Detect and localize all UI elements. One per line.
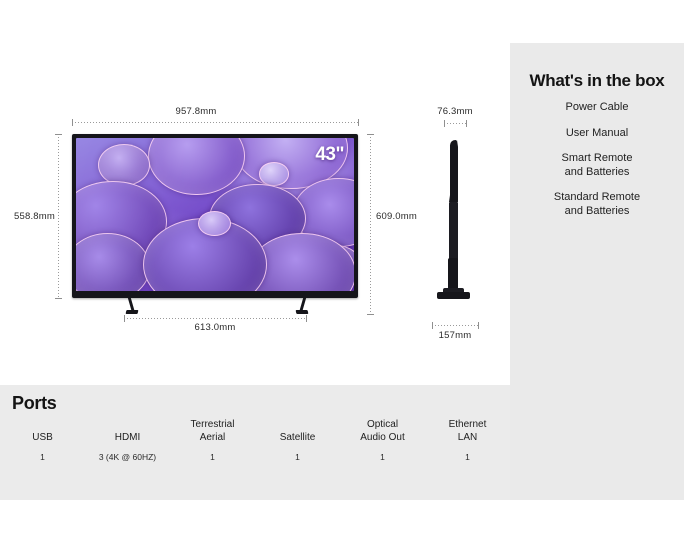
tv-front-view: 43"	[72, 134, 358, 298]
port-name-line1: Ethernet	[449, 419, 487, 432]
tv-screen-artwork: 43"	[76, 138, 354, 291]
base-depth-dimension-line	[432, 325, 478, 326]
port-name: Optical Audio Out	[340, 419, 425, 444]
height-left-dimension-line	[58, 134, 59, 298]
whats-in-the-box-title: What's in the box	[510, 71, 684, 91]
depth-dimension-line	[444, 123, 466, 124]
box-item: Smart Remote and Batteries	[510, 152, 684, 179]
height-right-dimension-label: 609.0mm	[376, 211, 417, 222]
port-column-usb: USB 1	[0, 419, 85, 462]
ports-row: USB 1 HDMI 3 (4K @ 60HZ) Terrestrial Aer…	[0, 419, 510, 462]
whats-in-the-box-panel: What's in the box Power Cable User Manua…	[510, 43, 684, 500]
port-name-line2: Audio Out	[360, 432, 404, 445]
port-name-line2: Satellite	[280, 432, 316, 445]
port-name: Ethernet LAN	[425, 419, 510, 444]
port-column-hdmi: HDMI 3 (4K @ 60HZ)	[85, 419, 170, 462]
box-item-line2: and Batteries	[510, 205, 684, 219]
port-name: HDMI	[85, 419, 170, 444]
ports-title: Ports	[12, 393, 57, 414]
base-depth-dimension-label: 157mm	[439, 330, 472, 341]
port-column-optical-audio-out: Optical Audio Out 1	[340, 419, 425, 462]
port-name-line2: LAN	[458, 432, 477, 445]
port-name-line2: HDMI	[115, 432, 141, 445]
port-name: Terrestrial Aerial	[170, 419, 255, 444]
port-value: 1	[255, 452, 340, 462]
box-item-line1: User Manual	[510, 127, 684, 141]
box-item-line1: Standard Remote	[510, 191, 684, 205]
ports-panel: Ports USB 1 HDMI 3 (4K @ 60HZ) Terrestri…	[0, 385, 510, 500]
stand-width-dimension-line	[124, 318, 306, 319]
tv-stand-base	[437, 292, 470, 299]
box-item: Power Cable	[510, 101, 684, 115]
screen-size-badge: 43"	[315, 144, 344, 166]
height-left-dimension-label: 558.8mm	[14, 211, 55, 222]
box-item-line1: Smart Remote	[510, 152, 684, 166]
depth-dimension-label: 76.3mm	[437, 106, 473, 117]
port-value: 1	[170, 452, 255, 462]
box-item: Standard Remote and Batteries	[510, 191, 684, 218]
port-name: USB	[0, 419, 85, 444]
tv-side-view	[440, 140, 470, 305]
port-name-line1: Terrestrial	[191, 419, 235, 432]
height-right-dimension-line	[370, 134, 371, 314]
width-dimension-label: 957.8mm	[175, 106, 216, 117]
port-value: 1	[425, 452, 510, 462]
port-column-ethernet-lan: Ethernet LAN 1	[425, 419, 510, 462]
port-name-line1: Optical	[367, 419, 398, 432]
box-item-line2: and Batteries	[510, 166, 684, 180]
spec-sheet-page: 957.8mm 558.8mm 609.0mm 43"	[0, 0, 684, 547]
width-dimension-line	[72, 122, 358, 123]
box-item-line1: Power Cable	[510, 101, 684, 115]
port-name-line2: USB	[32, 432, 53, 445]
port-column-satellite: Satellite 1	[255, 419, 340, 462]
stand-width-dimension-label: 613.0mm	[194, 322, 235, 333]
port-column-terrestrial-aerial: Terrestrial Aerial 1	[170, 419, 255, 462]
port-value: 3 (4K @ 60HZ)	[85, 452, 170, 462]
port-value: 1	[340, 452, 425, 462]
whats-in-the-box-list: Power Cable User Manual Smart Remote and…	[510, 101, 684, 230]
port-name: Satellite	[255, 419, 340, 444]
dimensions-panel: 957.8mm 558.8mm 609.0mm 43"	[0, 0, 510, 385]
port-name-line2: Aerial	[200, 432, 226, 445]
port-value: 1	[0, 452, 85, 462]
box-item: User Manual	[510, 127, 684, 141]
